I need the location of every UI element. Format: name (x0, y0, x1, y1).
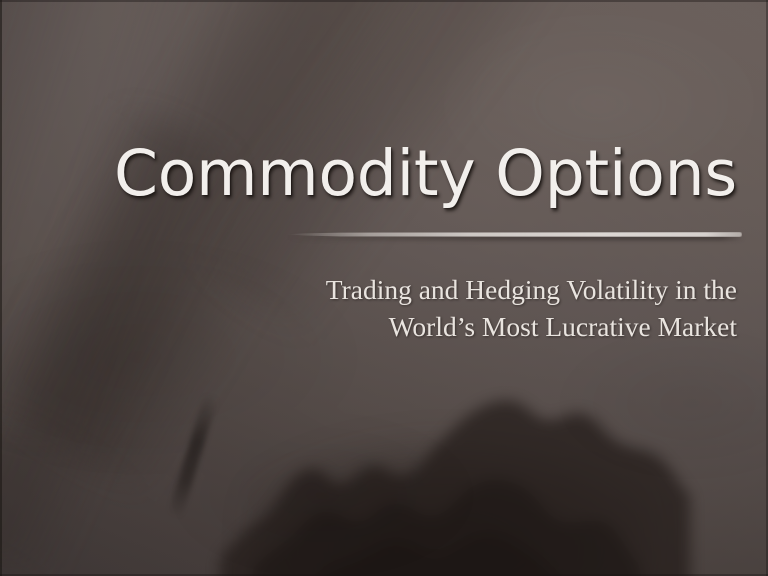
page-title: Commodity Options (40, 139, 737, 210)
slide-subtitle: Trading and Hedging Volatility in the Wo… (200, 272, 737, 345)
divider-line (286, 232, 742, 237)
title-slide: Commodity Options Trading and Hedging Vo… (0, 0, 768, 576)
subtitle-line-1: Trading and Hedging Volatility in the (200, 272, 737, 309)
subtitle-line-2: World’s Most Lucrative Market (200, 309, 737, 346)
title-divider-rule (286, 229, 742, 240)
slide-content: Commodity Options Trading and Hedging Vo… (0, 0, 768, 576)
